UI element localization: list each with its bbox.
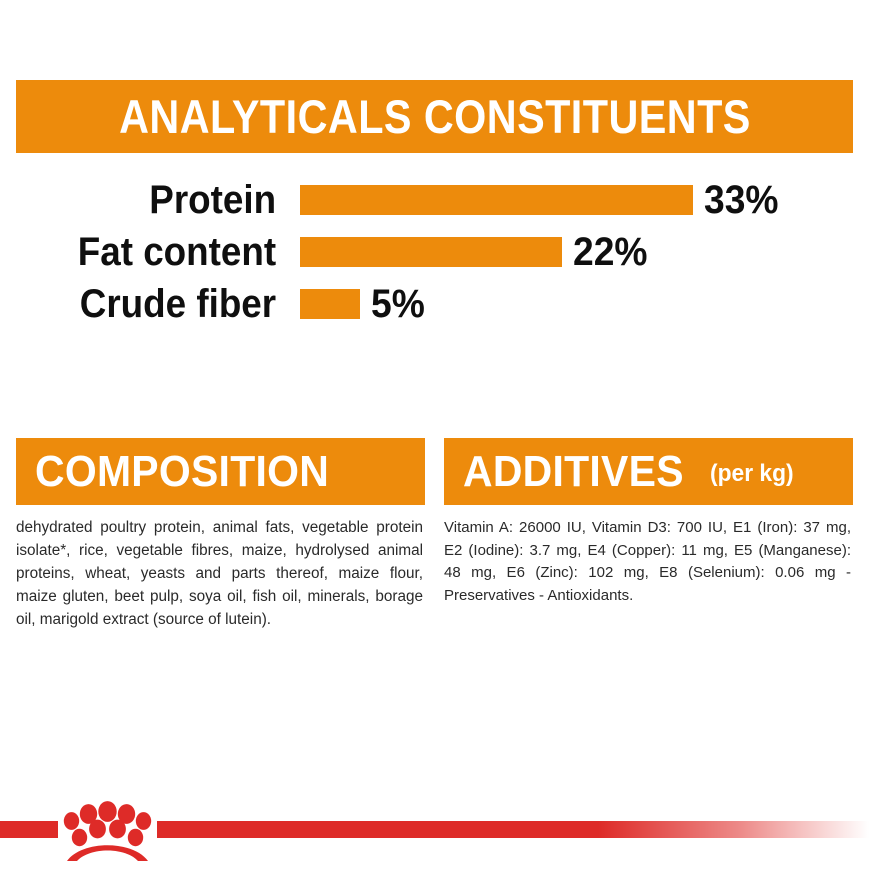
chart-row: Protein 33% [0, 174, 869, 226]
composition-header-title: COMPOSITION [35, 450, 329, 494]
chart-bar-group: 33% [300, 174, 784, 226]
additives-section: ADDITIVES (per kg) Vitamin A: 26000 IU, … [444, 438, 853, 607]
chart-value-label: 5% [371, 284, 425, 324]
royal-canin-crown-icon [58, 795, 157, 861]
chart-row: Crude fiber 5% [0, 278, 869, 330]
footer-rule-left [0, 821, 58, 838]
composition-header-banner: COMPOSITION [16, 438, 425, 505]
chart-value-label: 22% [573, 232, 647, 272]
nutrition-label-page: ANALYTICALS CONSTITUENTS Protein 33% Fat… [0, 0, 869, 869]
additives-body-text: Vitamin A: 26000 IU, Vitamin D3: 700 IU,… [444, 517, 853, 607]
analyticals-constituents-banner: ANALYTICALS CONSTITUENTS [16, 80, 853, 153]
chart-category-label: Protein [24, 180, 300, 220]
additives-header-title: ADDITIVES [463, 450, 684, 494]
composition-section: COMPOSITION dehydrated poultry protein, … [16, 438, 425, 632]
chart-category-label: Fat content [24, 232, 300, 272]
chart-row: Fat content 22% [0, 226, 869, 278]
footer-rule-right [157, 821, 869, 838]
chart-category-label: Crude fiber [24, 284, 300, 324]
additives-header-subtitle: (per kg) [710, 462, 794, 486]
chart-bar [300, 237, 562, 267]
chart-bar [300, 289, 360, 319]
chart-bar-group: 5% [300, 278, 428, 330]
chart-bar-group: 22% [300, 226, 653, 278]
footer-brand-strip [0, 795, 869, 869]
analyticals-bar-chart: Protein 33% Fat content 22% Crude fiber … [0, 172, 869, 340]
page-title: ANALYTICALS CONSTITUENTS [119, 93, 751, 140]
additives-header-banner: ADDITIVES (per kg) [444, 438, 853, 505]
composition-body-text: dehydrated poultry protein, animal fats,… [16, 517, 425, 632]
chart-value-label: 33% [704, 180, 778, 220]
chart-bar [300, 185, 693, 215]
